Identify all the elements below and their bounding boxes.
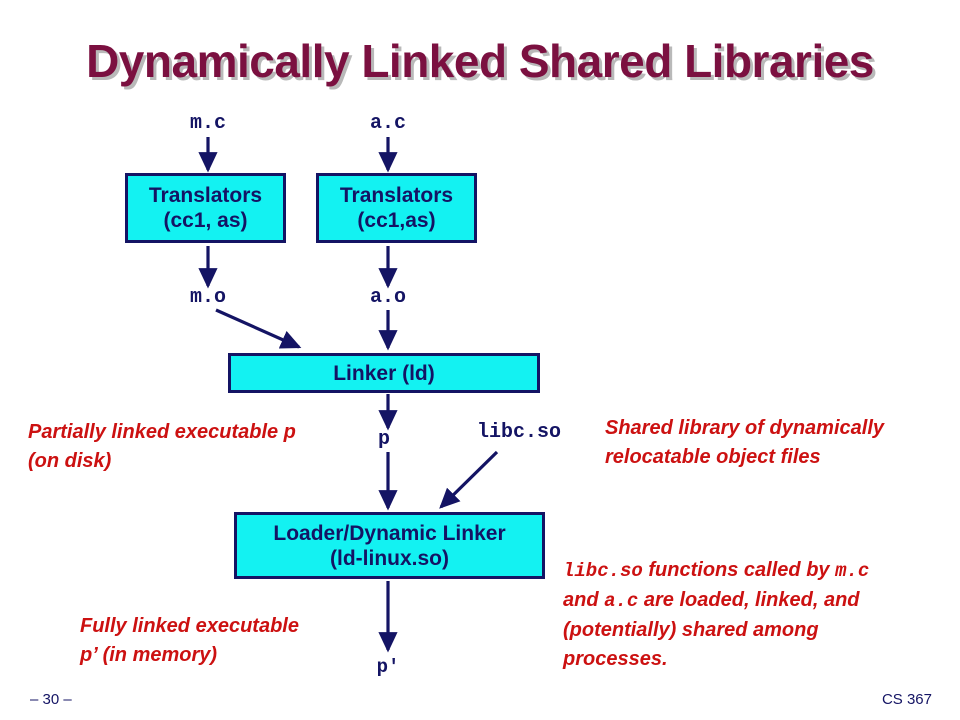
footer-page-number: – 30 – — [30, 691, 72, 708]
slide-canvas: Dynamically Linked Shared Libraries Tran… — [0, 0, 960, 720]
note-shared-library: Shared library of dynamically relocatabl… — [605, 414, 945, 472]
page-title: Dynamically Linked Shared Libraries — [0, 34, 960, 88]
code-label-p: p — [378, 428, 390, 451]
box-loader-dynamic-linker[interactable]: Loader/Dynamic Linker (ld-linux.so) — [234, 512, 545, 579]
note-mono-libc-so: libc.so — [563, 560, 643, 582]
code-label-m-o: m.o — [190, 286, 226, 309]
note-libc-detail: libc.so functions called by m.c and a.c … — [563, 527, 948, 674]
note-text-functions-called-by: functions called by — [643, 559, 835, 581]
arrow-mo-to-linker — [216, 310, 299, 347]
code-label-m-c: m.c — [190, 112, 226, 135]
box-translators-right[interactable]: Translators (cc1,as) — [316, 173, 477, 243]
footer-course-code: CS 367 — [882, 691, 932, 708]
code-label-a-o: a.o — [370, 286, 406, 309]
code-label-a-c: a.c — [370, 112, 406, 135]
code-label-libc-so: libc.so — [477, 421, 561, 444]
note-fully-linked: Fully linked executable p’ (in memory) — [80, 612, 380, 670]
box-linker[interactable]: Linker (ld) — [228, 353, 540, 393]
note-partially-linked: Partially linked executable p (on disk) — [28, 418, 358, 476]
arrow-libcso-to-loader — [441, 452, 497, 507]
note-mono-a-c: a.c — [604, 590, 638, 612]
note-mono-m-c: m.c — [835, 560, 869, 582]
box-translators-left[interactable]: Translators (cc1, as) — [125, 173, 286, 243]
note-text-and: and — [563, 589, 604, 611]
code-label-p-prime: p′ — [377, 656, 400, 678]
